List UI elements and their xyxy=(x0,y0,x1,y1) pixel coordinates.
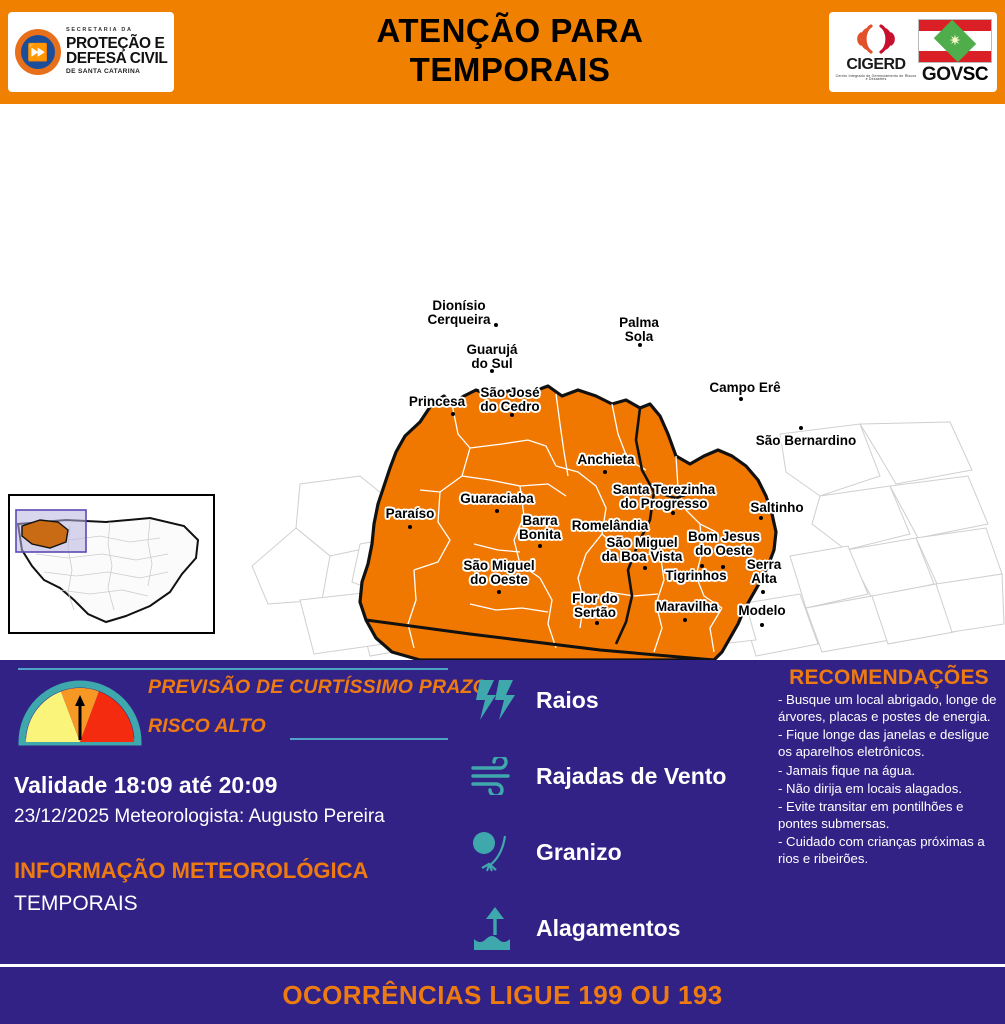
map-city-dot xyxy=(497,590,501,594)
hazard-list: Raios Rajadas de Vento Gr xyxy=(470,670,770,960)
header-banner: ⏩ SECRETARIA DA PROTEÇÃO E DEFESA CIVIL … xyxy=(0,0,1005,104)
map-city-dot xyxy=(760,623,764,627)
lightning-icon xyxy=(470,676,520,724)
map-city-dot xyxy=(451,412,455,416)
map-city-dot xyxy=(761,590,765,594)
emergency-phone-text: OCORRÊNCIAS LIGUE 199 OU 193 xyxy=(282,980,722,1011)
map-city-label: Maravilha xyxy=(656,600,718,614)
state-locator-inset xyxy=(8,494,215,634)
logo-pre-text: SECRETARIA DA xyxy=(66,28,167,34)
forecast-headings: PREVISÃO DE CURTÍSSIMO PRAZO RISCO ALTO xyxy=(148,676,448,738)
recommendation-item: - Cuidado com crianças próximas a rios e… xyxy=(778,833,1000,867)
map-city-label: Barra Bonita xyxy=(519,514,561,542)
map-city-dot xyxy=(603,470,607,474)
divider-top xyxy=(18,668,448,670)
wind-icon xyxy=(470,752,520,800)
map-city-dot xyxy=(739,397,743,401)
map-city-label: Saltinho xyxy=(750,501,803,515)
recommendations-panel: RECOMENDAÇÕES - Busque um local abrigado… xyxy=(778,666,1000,960)
cigerd-mark-icon xyxy=(851,22,901,56)
govsc-name: GOVSC xyxy=(922,64,988,86)
map-city-label: Guarujá do Sul xyxy=(466,343,517,371)
map-city-label: Dionísio Cerqueira xyxy=(427,299,490,327)
hands-icon: ⏩ xyxy=(27,44,48,61)
hazard-item-rajadas-de-vento: Rajadas de Vento xyxy=(470,752,726,800)
hazard-item-granizo: Granizo xyxy=(470,828,622,876)
hazard-label: Granizo xyxy=(536,839,622,866)
cigerd-subtitle: Centro Integrado de Gerenciamento de Ris… xyxy=(834,75,918,82)
map-city-label: Princesa xyxy=(409,395,465,409)
map-city-dot xyxy=(643,566,647,570)
map-city-label: Guaraciaba xyxy=(460,492,534,506)
map-city-dot xyxy=(799,426,803,430)
map-city-dot xyxy=(495,509,499,513)
state-locator-graphic xyxy=(10,496,213,632)
map-city-label: Palma Sola xyxy=(619,316,659,344)
map-city-label: Anchieta xyxy=(577,453,634,467)
hail-icon xyxy=(470,828,520,876)
risk-gauge xyxy=(18,678,142,744)
map-city-dot xyxy=(671,511,675,515)
alert-map: Dionísio CerqueiraGuarujá do SulPalma So… xyxy=(0,104,1005,660)
meteorologist-text: 23/12/2025 Meteorologista: Augusto Perei… xyxy=(14,806,385,828)
divider-mid xyxy=(290,738,448,740)
alert-region-polygon xyxy=(360,386,776,660)
hazard-item-alagamentos: Alagamentos xyxy=(470,904,680,952)
map-city-label: Tigrinhos xyxy=(665,569,726,583)
defesa-civil-badge-inner: ⏩ xyxy=(21,35,55,69)
recommendation-item: - Não dirija em locais alagados. xyxy=(778,780,1000,797)
emergency-footer: OCORRÊNCIAS LIGUE 199 OU 193 xyxy=(0,964,1005,1024)
alert-title-line1: ATENÇÃO PARA xyxy=(250,12,770,51)
validity-text: Validade 18:09 até 20:09 xyxy=(14,772,277,799)
santa-catarina-flag-icon: ✷ xyxy=(918,19,992,63)
map-city-label: São José do Cedro xyxy=(480,386,539,414)
map-city-label: São Miguel do Oeste xyxy=(463,559,534,587)
map-city-label: Paraíso xyxy=(386,507,435,521)
logo-line1-text: PROTEÇÃO E xyxy=(66,36,167,52)
forecast-summary: PREVISÃO DE CURTÍSSIMO PRAZO RISCO ALTO … xyxy=(0,660,462,964)
govsc-logo: ✷ GOVSC xyxy=(918,19,992,86)
map-city-label: Santa Terezinha do Progresso xyxy=(613,483,716,511)
map-city-label: Bom Jesus do Oeste xyxy=(688,530,760,558)
flood-icon xyxy=(470,904,520,952)
map-city-label: São Miguel da Boa Vista xyxy=(602,536,683,564)
map-city-label: Campo Erê xyxy=(709,381,780,395)
map-city-dot xyxy=(494,323,498,327)
hazard-label: Rajadas de Vento xyxy=(536,763,726,790)
map-city-label: Romelândia xyxy=(572,519,649,533)
map-city-label: São Bernardino xyxy=(756,434,857,448)
map-city-dot xyxy=(408,525,412,529)
gov-prefix: GOV xyxy=(922,64,963,85)
risk-gauge-icon xyxy=(18,678,142,748)
map-city-dot xyxy=(595,621,599,625)
recommendation-item: - Evite transitar em pontilhões e pontes… xyxy=(778,798,1000,832)
recommendation-item: - Fique longe das janelas e desligue os … xyxy=(778,726,1000,760)
alert-title: ATENÇÃO PARA TEMPORAIS xyxy=(250,12,770,90)
info-section-value: TEMPORAIS xyxy=(14,892,138,916)
forecast-type-label: PREVISÃO DE CURTÍSSIMO PRAZO xyxy=(148,676,448,699)
cigerd-name: CIGERD xyxy=(846,57,905,73)
recommendation-item: - Busque um local abrigado, longe de árv… xyxy=(778,691,1000,725)
recommendations-title: RECOMENDAÇÕES xyxy=(778,666,1000,690)
map-city-label: Serra Alta xyxy=(747,558,782,586)
logo-line2-text: DEFESA CIVIL xyxy=(66,51,167,67)
hazard-label: Alagamentos xyxy=(536,915,680,942)
logo-line3-text: DE SANTA CATARINA xyxy=(66,69,167,76)
map-city-label: Flor do Sertão xyxy=(572,592,618,620)
info-section-title: INFORMAÇÃO METEOROLÓGICA xyxy=(14,858,368,884)
map-city-label: Modelo xyxy=(738,604,785,618)
recommendations-list: - Busque um local abrigado, longe de árv… xyxy=(778,691,1000,868)
recommendation-item: - Jamais fique na água. xyxy=(778,762,1000,779)
risk-level-label: RISCO ALTO xyxy=(148,715,448,738)
gov-suffix: SC xyxy=(963,64,988,85)
hazard-item-raios: Raios xyxy=(470,676,599,724)
hazard-label: Raios xyxy=(536,687,599,714)
defesa-civil-badge-icon: ⏩ xyxy=(15,29,61,75)
map-city-dot xyxy=(759,516,763,520)
map-city-dot xyxy=(683,618,687,622)
info-panel: PREVISÃO DE CURTÍSSIMO PRAZO RISCO ALTO … xyxy=(0,660,1005,964)
map-city-dot xyxy=(538,544,542,548)
defesa-civil-logo: ⏩ SECRETARIA DA PROTEÇÃO E DEFESA CIVIL … xyxy=(8,12,174,92)
cigerd-logo: CIGERD Centro Integrado de Gerenciamento… xyxy=(834,22,918,82)
partner-logos: CIGERD Centro Integrado de Gerenciamento… xyxy=(829,12,997,92)
alert-title-line2: TEMPORAIS xyxy=(250,51,770,90)
defesa-civil-logo-text: SECRETARIA DA PROTEÇÃO E DEFESA CIVIL DE… xyxy=(66,28,167,75)
